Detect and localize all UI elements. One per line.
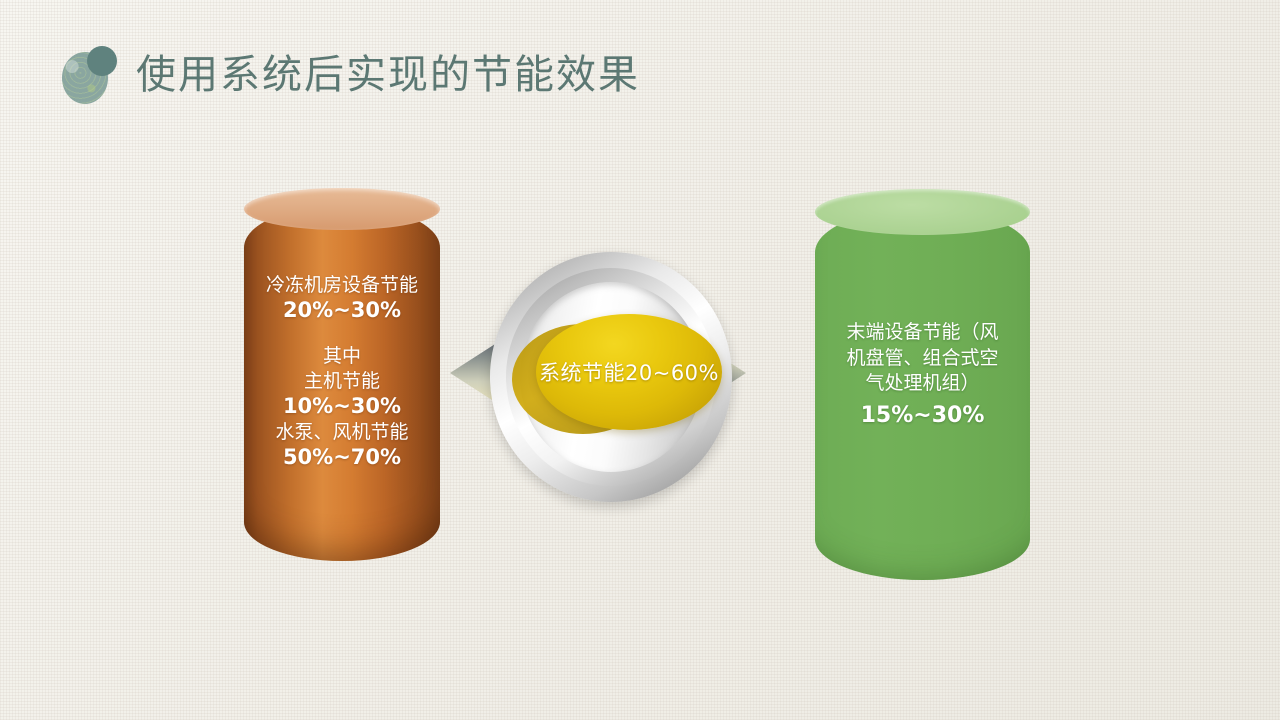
right-cylinder-top: [815, 189, 1030, 235]
left-cyl-line-5: 10%~30%: [244, 393, 440, 420]
right-cyl-line-3: 气处理机组）: [815, 371, 1030, 397]
left-cyl-line-2: 20%~30%: [244, 297, 440, 324]
decorative-circle-small: [87, 46, 117, 76]
right-cyl-line-4: 15%~30%: [815, 401, 1030, 431]
center-badge: 系统节能20~60%: [490, 252, 732, 502]
right-cylinder-text: 末端设备节能（风 机盘管、组合式空 气处理机组） 15%~30%: [815, 320, 1030, 431]
left-cylinder: 冷冻机房设备节能 20%~30% 其中 主机节能 10%~30% 水泵、风机节能…: [244, 205, 440, 561]
left-cyl-line-4: 主机节能: [244, 369, 440, 393]
right-cyl-line-1: 末端设备节能（风: [815, 320, 1030, 346]
left-cyl-line-7: 50%~70%: [244, 444, 440, 471]
slide-canvas: 使用系统后实现的节能效果 冷冻机房设备节能 20%~30% 其中 主机节能 10…: [0, 0, 1280, 720]
left-cylinder-text: 冷冻机房设备节能 20%~30% 其中 主机节能 10%~30% 水泵、风机节能…: [244, 273, 440, 471]
page-title: 使用系统后实现的节能效果: [136, 55, 640, 95]
left-cyl-line-3: 其中: [244, 344, 440, 368]
left-cyl-line-6: 水泵、风机节能: [244, 420, 440, 444]
left-cylinder-top: [244, 188, 440, 230]
spacer: [244, 324, 440, 344]
slide-header: 使用系统后实现的节能效果: [62, 42, 640, 108]
center-badge-label: 系统节能20~60%: [536, 314, 722, 430]
right-cyl-line-2: 机盘管、组合式空: [815, 346, 1030, 372]
right-cylinder: 末端设备节能（风 机盘管、组合式空 气处理机组） 15%~30%: [815, 208, 1030, 580]
left-cyl-line-1: 冷冻机房设备节能: [244, 273, 440, 297]
decorative-circles-icon: [62, 46, 114, 104]
